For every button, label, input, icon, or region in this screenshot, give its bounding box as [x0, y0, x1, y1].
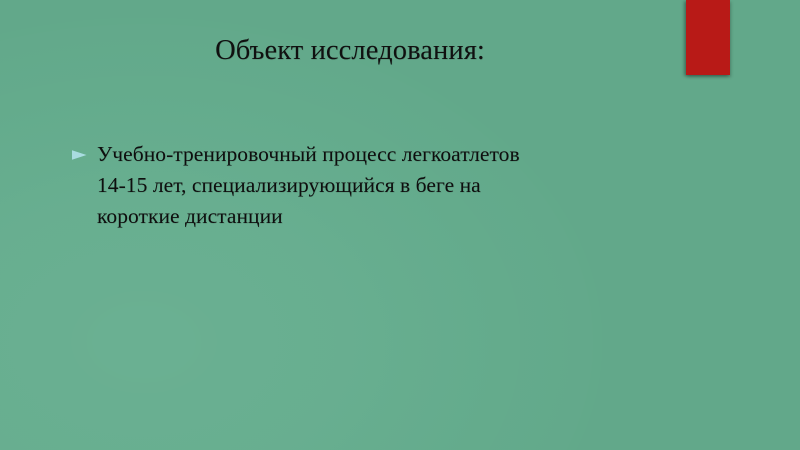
- triangle-right-bullet-icon: [72, 139, 97, 161]
- presentation-slide: Объект исследования: Учебно-тренировочны…: [0, 0, 800, 450]
- slide-title-placeholder[interactable]: Объект исследования:: [55, 27, 645, 75]
- red-accent-block: [686, 0, 730, 75]
- list-item-text-line: Учебно-тренировочный процесс легкоатлето…: [97, 139, 672, 170]
- list-item-text-line: короткие дистанции: [97, 201, 672, 232]
- list-item-text: Учебно-тренировочный процесс легкоатлето…: [97, 139, 672, 232]
- slide-body-placeholder[interactable]: Учебно-тренировочный процесс легкоатлето…: [72, 139, 672, 232]
- page-title: Объект исследования:: [215, 35, 485, 67]
- list-item: Учебно-тренировочный процесс легкоатлето…: [72, 139, 672, 232]
- list-item-text-line: 14-15 лет, специализирующийся в беге на: [97, 170, 672, 201]
